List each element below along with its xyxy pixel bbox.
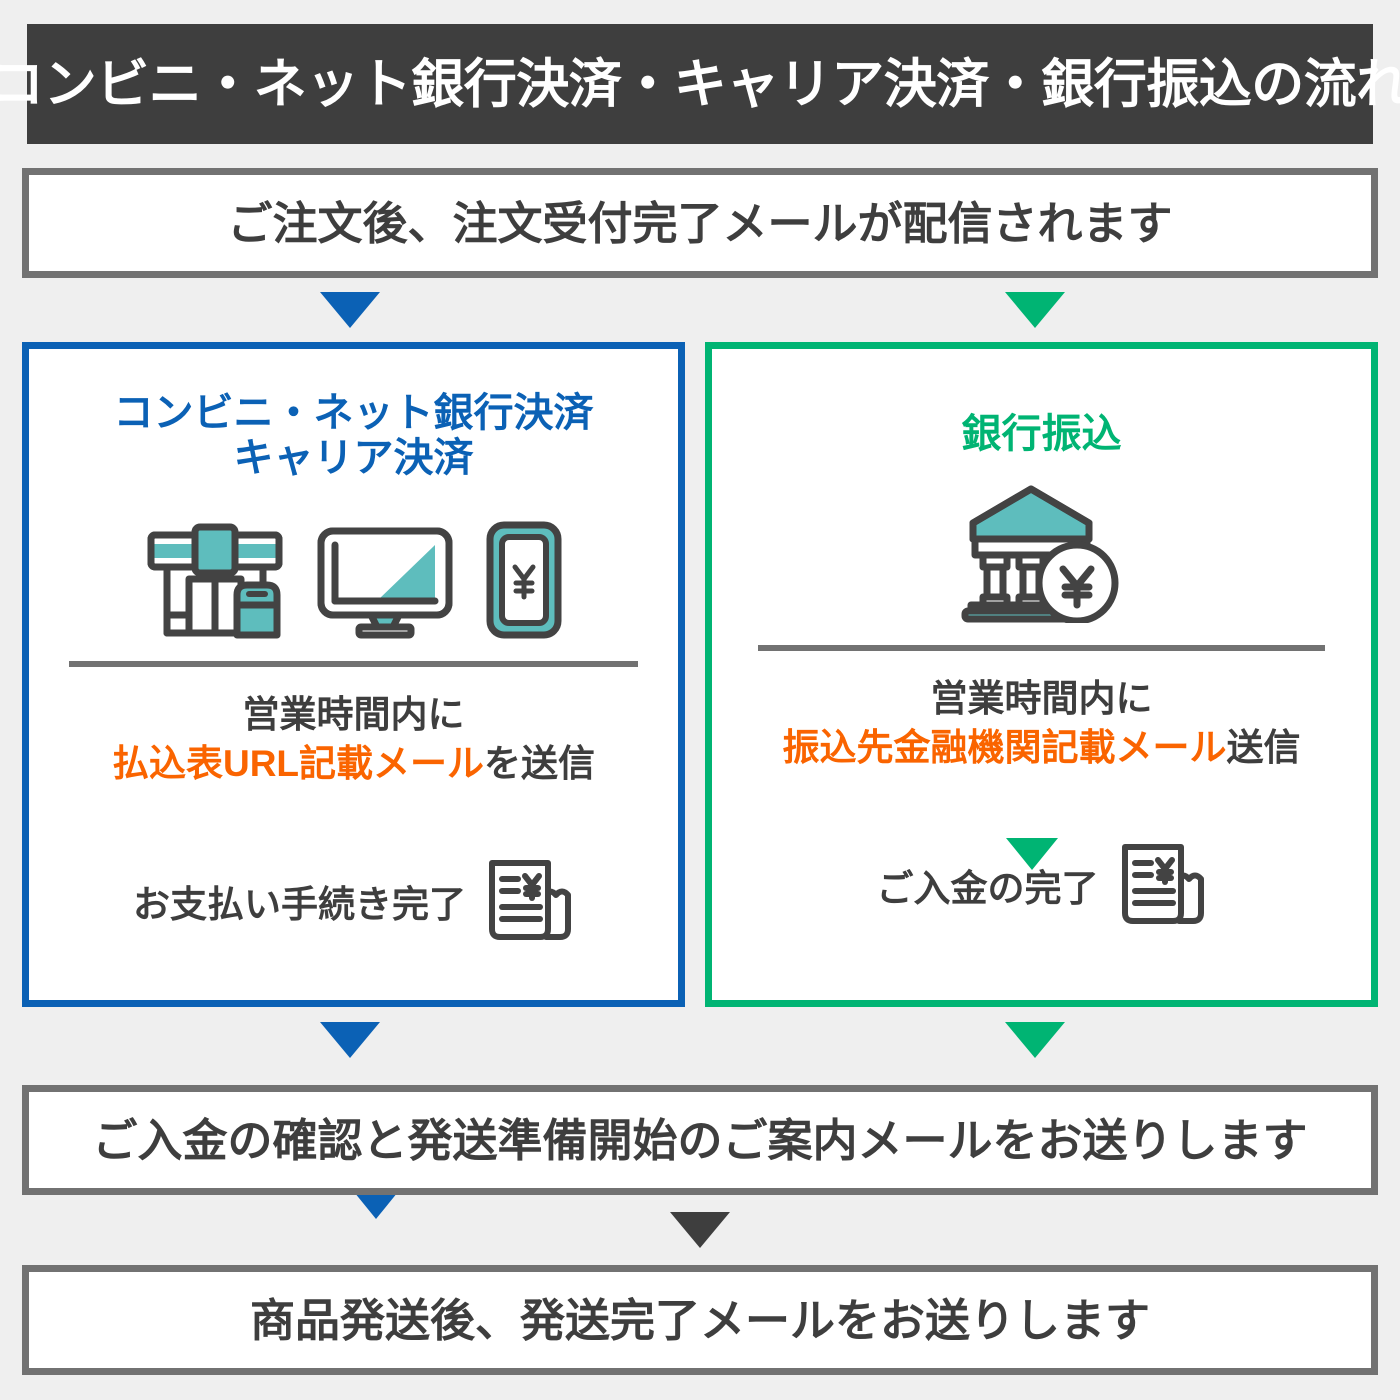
down-arrow-green-inner [1006, 838, 1058, 870]
step-order-received-label: ご注文後、注文受付完了メールが配信されます [227, 201, 1172, 246]
down-arrow-blue-bottom [320, 1022, 380, 1058]
panel-konbini-highlight: 払込表URL記載メール [112, 743, 484, 784]
panel-konbini-body-line1: 営業時間内に [29, 693, 678, 737]
panel-bank-transfer-icon-row [712, 493, 1371, 623]
panel-konbini-complete-label: お支払い手続き完了 [133, 874, 466, 928]
down-arrow-dark-final [670, 1212, 730, 1248]
panel-konbini-payment: コンビニ・ネット銀行決済 キャリア決済 [22, 342, 685, 1007]
down-arrow-green-top [1005, 292, 1065, 328]
smartphone-yen-icon [485, 521, 563, 639]
bank-yen-icon [959, 483, 1125, 623]
panel-konbini-complete-row: お支払い手続き完了 [29, 855, 678, 947]
down-arrow-green-bottom [1005, 1022, 1065, 1058]
step-payment-confirmed-label: ご入金の確認と発送準備開始のご案内メールをお送りします [92, 1118, 1307, 1163]
invoice-yen-icon [1115, 839, 1207, 931]
panel-bank-transfer: 銀行振込 [705, 342, 1378, 1007]
panel-konbini-divider [69, 661, 638, 667]
step-shipment-complete: 商品発送後、発送完了メールをお送りします [22, 1265, 1378, 1375]
panel-bank-transfer-body: 営業時間内に 振込先金融機関記載メール送信 [712, 677, 1371, 772]
panel-bank-transfer-highlight: 振込先金融機関記載メール [783, 727, 1227, 768]
payment-flow-diagram: コンビニ・ネット銀行決済・キャリア決済・銀行振込の流れ ご注文後、注文受付完了メ… [0, 0, 1400, 1400]
step-shipment-complete-label: 商品発送後、発送完了メールをお送りします [250, 1298, 1150, 1343]
panel-bank-transfer-divider [758, 645, 1325, 651]
step-order-received: ご注文後、注文受付完了メールが配信されます [22, 168, 1378, 278]
monitor-icon [315, 521, 455, 639]
panel-konbini-title: コンビニ・ネット銀行決済 キャリア決済 [29, 391, 678, 481]
panel-bank-transfer-body-line1: 営業時間内に [712, 677, 1371, 721]
panel-konbini-body-suffix: を送信 [484, 743, 595, 784]
panel-bank-transfer-complete-label: ご入金の完了 [877, 858, 1099, 912]
panel-konbini-body-line2: 払込表URL記載メールを送信 [29, 741, 678, 787]
panel-bank-transfer-title: 銀行振込 [712, 412, 1371, 457]
convenience-store-icon [145, 521, 285, 639]
down-arrow-blue-top [320, 292, 380, 328]
diagram-title: コンビニ・ネット銀行決済・キャリア決済・銀行振込の流れ [0, 58, 1400, 111]
panel-bank-transfer-body-line2: 振込先金融機関記載メール送信 [712, 725, 1371, 771]
panel-bank-transfer-body-suffix: 送信 [1227, 727, 1301, 768]
diagram-title-bar: コンビニ・ネット銀行決済・キャリア決済・銀行振込の流れ [27, 24, 1373, 144]
panel-konbini-icon-row [29, 509, 678, 639]
panel-konbini-body: 営業時間内に 払込表URL記載メールを送信 [29, 693, 678, 788]
invoice-yen-icon [482, 855, 574, 947]
step-payment-confirmed: ご入金の確認と発送準備開始のご案内メールをお送りします [22, 1085, 1378, 1195]
